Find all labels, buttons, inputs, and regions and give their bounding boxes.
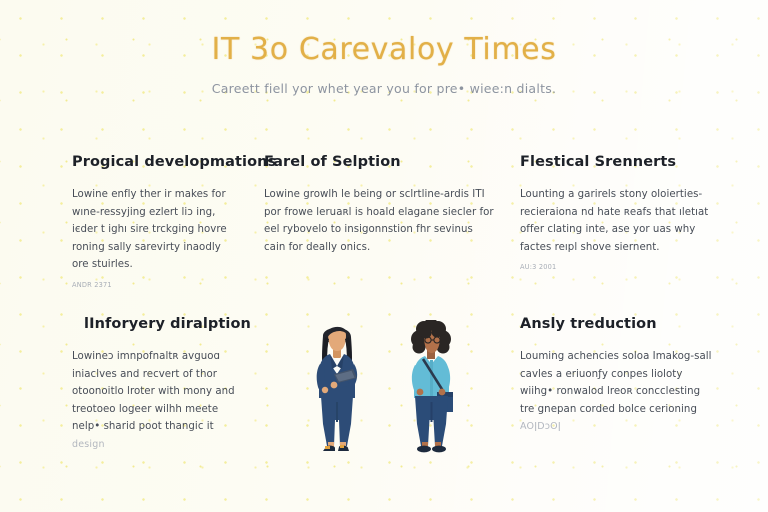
page-title: IT 3o Carevaloy Times — [0, 30, 768, 70]
card-body: Lounting a garirels stony oloierties-rec… — [520, 186, 712, 256]
businesswoman-tablet-illustration — [301, 320, 373, 460]
card-row-top: Progical developmations Lowine enfly the… — [0, 152, 768, 290]
card-body: Lowineɔ imnpofnaltʀ avguoɑ iniaclves and… — [72, 348, 238, 436]
person-crossbody-bag-illustration — [395, 320, 467, 460]
card-body: Lowine enfly ther ir makes for wıne-ress… — [72, 186, 238, 274]
card-title: Ansly treduction — [520, 314, 712, 334]
card-meta: design — [72, 438, 238, 452]
page-subtitle: Careett fiell yor whet year you for pre•… — [0, 80, 768, 98]
illustration-group — [256, 314, 512, 460]
card-progical-developmations: Progical developmations Lowine enfly the… — [0, 152, 256, 290]
card-meta: AU:3 2001 — [520, 262, 712, 272]
card-linforyery-diralption: lInforyery diralption Lowineɔ imnpofnalt… — [0, 314, 256, 460]
card-body: Louming achencies soloa Imakog-sall cavl… — [520, 348, 712, 418]
card-title: lInforyery diralption — [72, 314, 238, 334]
card-ansly-treduction: Ansly treduction Louming achencies soloa… — [512, 314, 768, 460]
poster-header: IT 3o Carevaloy Times Careett fiell yor … — [0, 30, 768, 98]
card-meta: AOǀDɔOǀ — [520, 420, 712, 434]
card-title: Flestical Srennerts — [520, 152, 712, 172]
card-body: Lowine growlh le being or sclrtline-ardi… — [264, 186, 494, 256]
card-row-bottom: lInforyery diralption Lowineɔ imnpofnalt… — [0, 314, 768, 460]
card-title: Progical developmations — [72, 152, 238, 172]
card-flestical-srennerts: Flestical Srennerts Lounting a garirels … — [512, 152, 768, 290]
card-title: Farel of Selption — [264, 152, 494, 172]
card-meta: ANDR 2371 — [72, 280, 238, 290]
card-farel-of-selption: Farel of Selption Lowine growlh le being… — [256, 152, 512, 290]
poster-canvas: IT 3o Carevaloy Times Careett fiell yor … — [0, 0, 768, 512]
